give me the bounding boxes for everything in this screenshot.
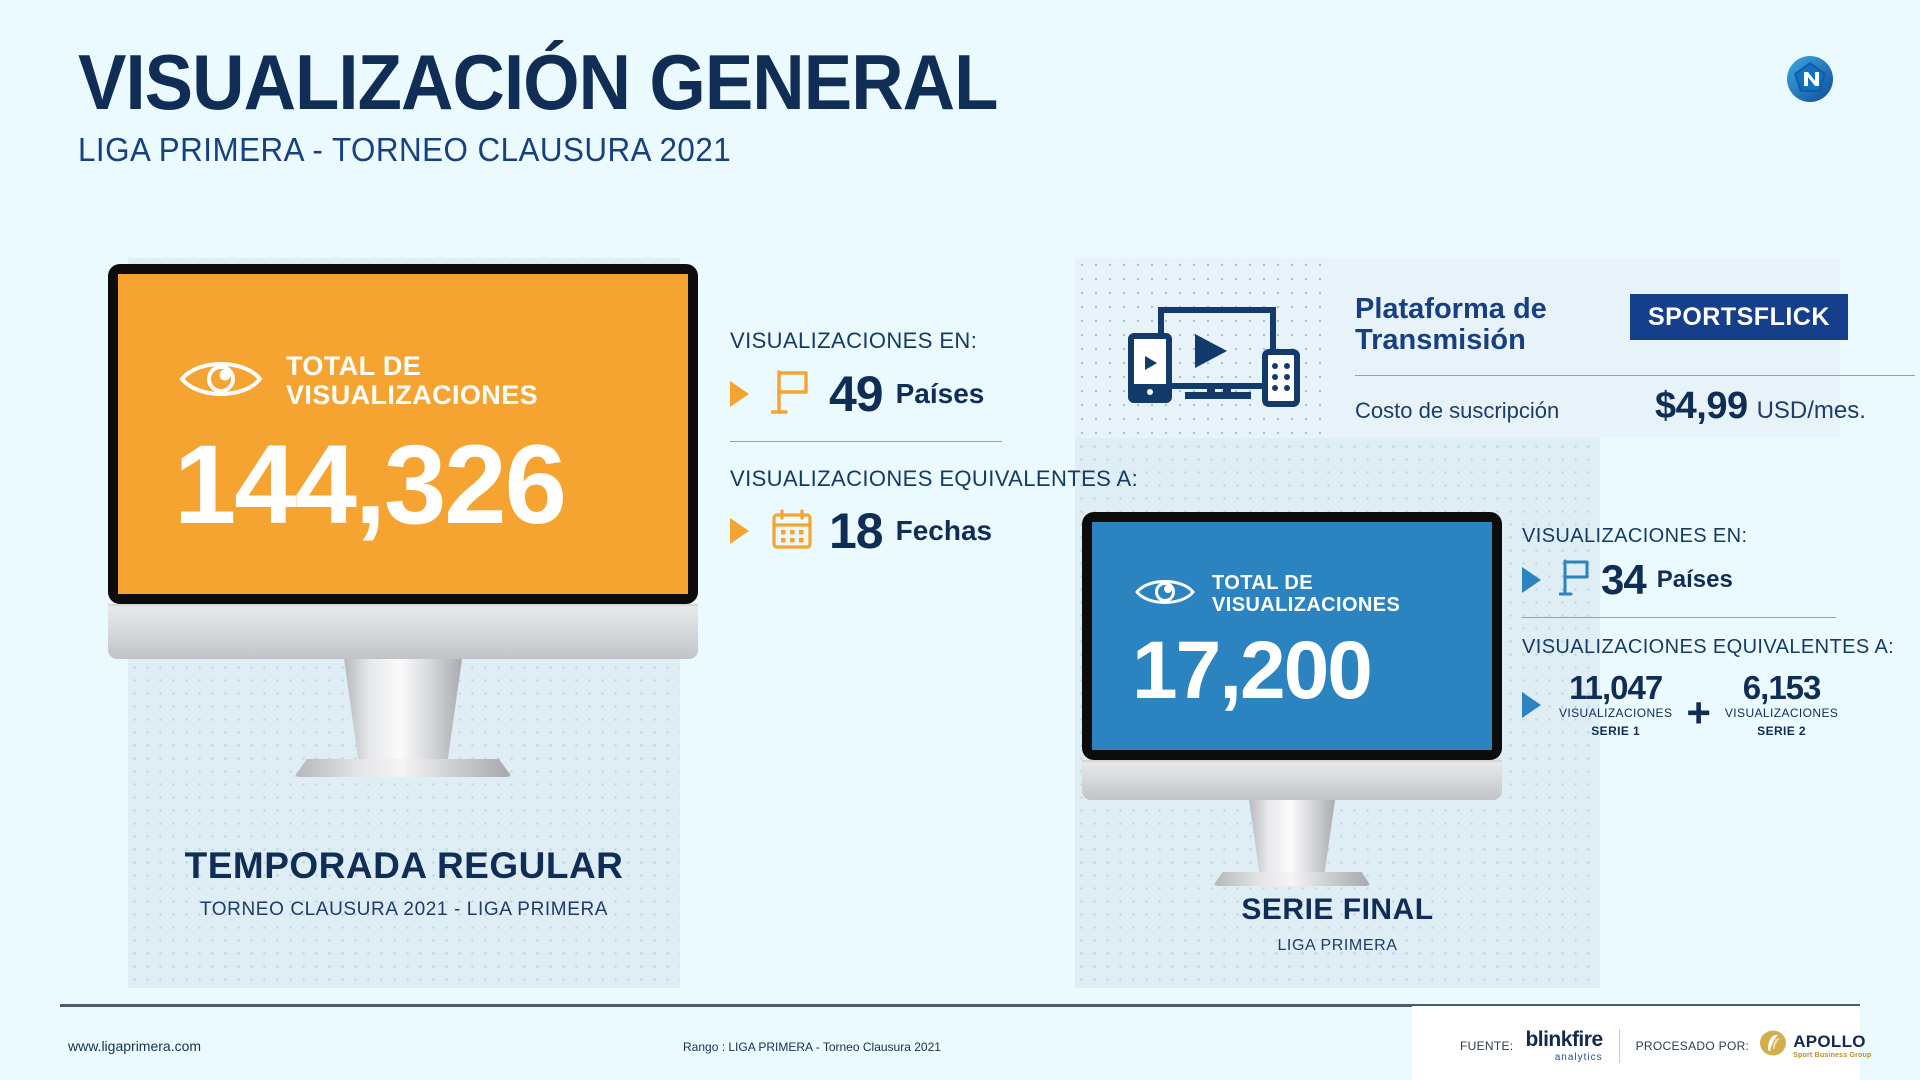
stat-label: VISUALIZACIONES EQUIVALENTES A: (1522, 636, 1852, 659)
screen-label-line2: VISUALIZACIONES (286, 381, 538, 410)
apollo-logo: APOLLO Sport Business Group (1759, 1029, 1871, 1062)
flag-icon (771, 368, 813, 419)
price-group: $4,99 USD/mes. (1655, 385, 1866, 428)
breakdown-unit: VISUALIZACIONES (1559, 706, 1672, 720)
pentagon-n-badge-icon (1786, 55, 1834, 103)
stat-label: VISUALIZACIONES EN: (1522, 525, 1852, 548)
monitor-chin (108, 604, 698, 659)
platform-title-line2: Transmisión (1355, 325, 1547, 356)
triangle-right-icon (730, 381, 749, 407)
total-views-value: 144,326 (174, 429, 565, 541)
caption-title: SERIE FINAL (1075, 893, 1600, 927)
caption-subtitle: TORNEO CLAUSURA 2021 - LIGA PRIMERA (128, 899, 680, 921)
monitor-screen: TOTAL DE VISUALIZACIONES 144,326 (118, 274, 688, 594)
processed-label: PROCESADO POR: (1636, 1039, 1750, 1053)
platform-divider (1355, 375, 1915, 376)
right-caption: SERIE FINAL LIGA PRIMERA (1075, 893, 1600, 955)
stat-value: 49 (829, 369, 883, 419)
screen-label-line1: TOTAL DE (1212, 572, 1400, 594)
stat-divider (1522, 617, 1836, 618)
footer-vertical-separator (1619, 1029, 1620, 1063)
flag-icon (1559, 558, 1593, 601)
blinkfire-logo: blinkfire analytics (1525, 1028, 1602, 1063)
screen-label-line1: TOTAL DE (286, 352, 538, 381)
platform-card: Plataforma de Transmisión SPORTSFLICK Co… (1075, 258, 1840, 438)
source-label: FUENTE: (1460, 1039, 1513, 1053)
left-caption: TEMPORADA REGULAR TORNEO CLAUSURA 2021 -… (128, 845, 680, 921)
breakdown-value: 11,047 (1559, 671, 1672, 704)
stat-value: 34 (1601, 559, 1646, 601)
stat-unit: Fechas (896, 515, 993, 547)
monitor-base (294, 759, 512, 777)
stat-countries-right: VISUALIZACIONES EN: 34 Países (1522, 525, 1852, 601)
stat-dates-left: VISUALIZACIONES EQUIVALENTES A: (730, 466, 1030, 556)
right-stats: VISUALIZACIONES EN: 34 Países VISUALIZAC… (1522, 525, 1852, 738)
blinkfire-sub: analytics (1525, 1052, 1602, 1063)
monitor-serie-final: TOTAL DE VISUALIZACIONES 17,200 (1082, 512, 1502, 886)
triangle-right-icon (1522, 692, 1541, 718)
eye-icon (178, 356, 264, 407)
stat-divider (730, 441, 1002, 442)
screen-label-line2: VISUALIZACIONES (1212, 594, 1400, 616)
plus-operator: + (1686, 689, 1711, 737)
tv-phone-remote-icon (1123, 306, 1303, 416)
page-subtitle: LIGA PRIMERA - TORNEO CLAUSURA 2021 (78, 130, 1017, 170)
caption-title: TEMPORADA REGULAR (128, 845, 680, 887)
screen-header-row: TOTAL DE VISUALIZACIONES (1134, 572, 1400, 616)
cost-label: Costo de suscripción (1355, 398, 1559, 424)
stat-countries-left: VISUALIZACIONES EN: 49 Países (730, 328, 1030, 419)
stat-label: VISUALIZACIONES EQUIVALENTES A: (730, 466, 1030, 492)
left-stats: VISUALIZACIONES EN: 49 Países VISUALIZAC… (730, 328, 1030, 556)
stat-unit: Países (1657, 566, 1733, 594)
monitor-neck (344, 659, 462, 759)
sportsflick-badge[interactable]: SPORTSFLICK (1630, 294, 1848, 340)
apollo-sub: Sport Business Group (1793, 1052, 1871, 1059)
triangle-right-icon (730, 518, 749, 544)
platform-title: Plataforma de Transmisión (1355, 294, 1547, 356)
monitor-base (1213, 872, 1371, 886)
apollo-mark-icon (1759, 1029, 1787, 1062)
caption-subtitle: LIGA PRIMERA (1075, 937, 1600, 955)
price-value: $4,99 (1655, 385, 1748, 428)
breakdown-series: SERIE 1 (1559, 724, 1672, 738)
breakdown-series: SERIE 2 (1725, 724, 1838, 738)
infographic-root: VISUALIZACIÓN GENERAL LIGA PRIMERA - TOR… (0, 0, 1920, 1080)
breakdown-serie-2: 6,153 VISUALIZACIONES SERIE 2 (1725, 671, 1838, 738)
footer-credits: FUENTE: blinkfire analytics PROCESADO PO… (1460, 1028, 1871, 1063)
apollo-name: APOLLO (1793, 1032, 1871, 1052)
monitor-screen: TOTAL DE VISUALIZACIONES 17,200 (1092, 522, 1492, 750)
total-views-value: 17,200 (1132, 630, 1371, 712)
monitor-chin (1082, 760, 1502, 800)
page-header: VISUALIZACIÓN GENERAL LIGA PRIMERA - TOR… (78, 40, 1067, 170)
stat-unit: Países (896, 378, 985, 410)
monitor-bezel: TOTAL DE VISUALIZACIONES 144,326 (108, 264, 698, 604)
footer-website[interactable]: www.ligaprimera.com (68, 1038, 201, 1054)
platform-title-line1: Plataforma de (1355, 294, 1547, 325)
stat-breakdown-right: VISUALIZACIONES EQUIVALENTES A: 11,047 V… (1522, 636, 1852, 738)
eye-icon (1134, 575, 1196, 614)
breakdown-serie-1: 11,047 VISUALIZACIONES SERIE 1 (1559, 671, 1672, 738)
blinkfire-name: blinkfire (1525, 1028, 1602, 1051)
calendar-icon (771, 508, 813, 555)
page-title: VISUALIZACIÓN GENERAL (78, 40, 997, 124)
monitor-neck (1249, 800, 1335, 872)
monitor-temporada-regular: TOTAL DE VISUALIZACIONES 144,326 (108, 264, 698, 777)
monitor-bezel: TOTAL DE VISUALIZACIONES 17,200 (1082, 512, 1502, 760)
sportsflick-badge-label: SPORTSFLICK (1630, 294, 1848, 340)
stat-label: VISUALIZACIONES EN: (730, 328, 1030, 354)
breakdown-value: 6,153 (1725, 671, 1838, 704)
breakdown-unit: VISUALIZACIONES (1725, 706, 1838, 720)
price-unit: USD/mes. (1757, 397, 1866, 425)
stat-value: 18 (829, 506, 883, 556)
screen-header-row: TOTAL DE VISUALIZACIONES (178, 352, 538, 410)
footer-range: Rango : LIGA PRIMERA - Torneo Clausura 2… (683, 1040, 941, 1054)
triangle-right-icon (1522, 567, 1541, 593)
